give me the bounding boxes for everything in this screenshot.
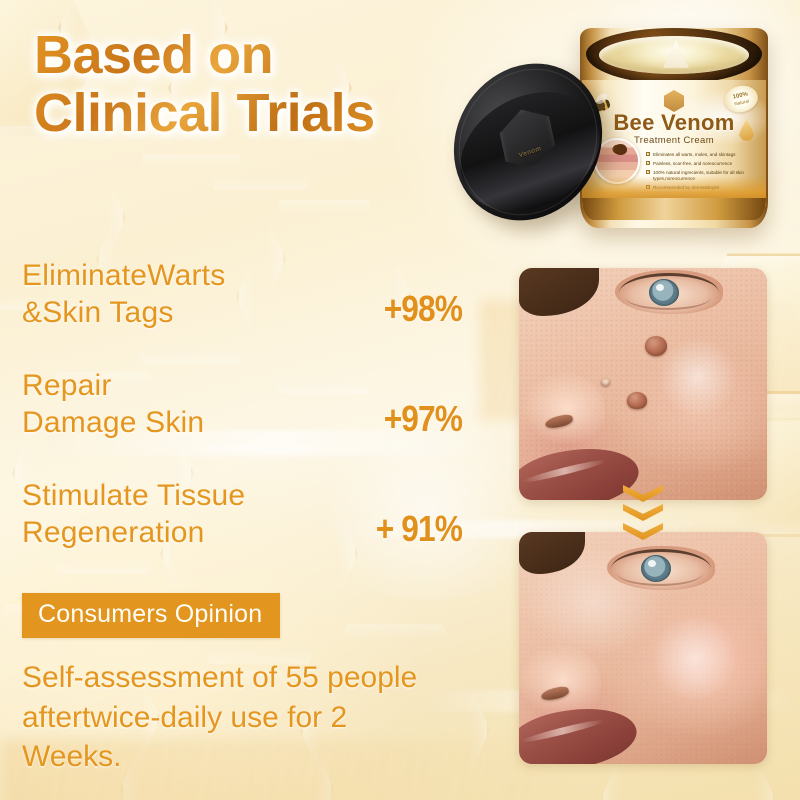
benefit-label: EliminateWarts &Skin Tags <box>22 258 225 332</box>
jar-base-band <box>582 198 766 220</box>
lower-eyelid <box>625 297 711 310</box>
headline-line-1: Based on <box>34 26 504 84</box>
cream-surface <box>599 36 749 74</box>
eyelash <box>619 273 719 293</box>
opinion-body-text: Self-assessment of 55 people aftertwice-… <box>22 658 472 777</box>
mole-lesion <box>601 378 610 386</box>
product-label: Bee Venom Treatment Cream 100% Natural ✓… <box>582 80 766 206</box>
cheek-highlight <box>655 338 741 416</box>
mole-lesion <box>627 392 647 409</box>
jar-body: Bee Venom Treatment Cream 100% Natural ✓… <box>580 28 768 228</box>
mole-lesion <box>645 336 667 356</box>
list-item: ✓ Painless, scar-free, and noreocurrence <box>646 161 758 167</box>
check-icon: ✓ <box>646 170 650 174</box>
crest-icon <box>664 90 684 112</box>
benefit-label: Repair Damage Skin <box>22 368 204 442</box>
before-photo <box>519 268 767 500</box>
benefit-row: Repair Damage Skin +97% <box>22 332 462 442</box>
check-icon: ✓ <box>646 161 650 165</box>
ad-creative-canvas: Based on Clinical Trials Bee Venom Treat… <box>0 0 800 800</box>
benefit-row: EliminateWarts &Skin Tags +98% <box>22 222 462 332</box>
eye <box>615 270 723 314</box>
status-badge: Consumers Opinion <box>22 593 280 638</box>
headline-line-2: Clinical Trials <box>34 84 504 142</box>
transition-arrows <box>623 485 663 540</box>
chevron-down-icon <box>623 485 663 502</box>
chevron-down-icon <box>623 504 663 521</box>
list-item-label: Eliminates all warts, moles, and skintag… <box>653 152 735 158</box>
after-photo <box>519 532 767 764</box>
benefit-value: +98% <box>384 288 462 332</box>
benefit-value: + 91% <box>376 508 462 552</box>
page-title: Based on Clinical Trials <box>34 26 504 143</box>
eye <box>607 546 715 590</box>
chevron-down-icon <box>623 523 663 540</box>
lower-eyelid <box>617 573 703 586</box>
product-jar-image: Bee Venom Treatment Cream 100% Natural ✓… <box>452 10 800 250</box>
cheek-highlight <box>647 616 743 700</box>
product-name: Bee Venom <box>582 110 766 136</box>
benefit-row: Stimulate Tissue Regeneration + 91% <box>22 442 462 552</box>
lid-emblem-label: Venom <box>518 145 542 159</box>
benefit-label: Stimulate Tissue Regeneration <box>22 478 245 552</box>
benefit-list: EliminateWarts &Skin Tags +98% Repair Da… <box>22 222 462 552</box>
check-icon: ✓ <box>646 152 650 156</box>
list-item: ✓ Eliminates all warts, moles, and skint… <box>646 152 758 158</box>
list-item-label: Painless, scar-free, and noreocurrence <box>653 161 732 167</box>
eyelash <box>611 549 711 569</box>
benefit-value: +97% <box>384 398 462 442</box>
cream-swirl-peak <box>659 40 693 68</box>
